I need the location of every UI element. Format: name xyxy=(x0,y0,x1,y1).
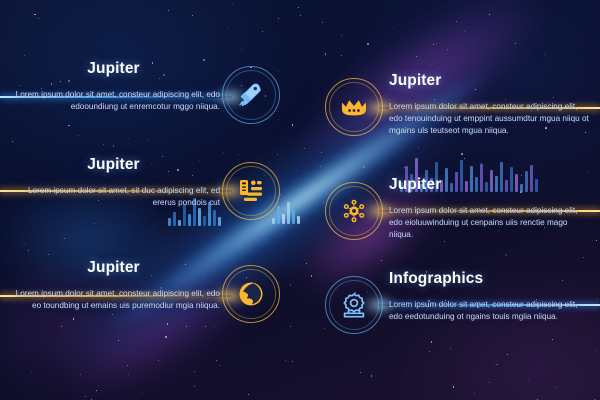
info-item-3-title: Jupiter xyxy=(7,156,220,173)
info-item-1-node[interactable] xyxy=(222,66,280,124)
info-item-6[interactable]: Infographics Lorem ipsum dolor sit amet,… xyxy=(325,270,593,334)
info-item-2-text: Jupiter Lorem ipsum dolor sit amet, cons… xyxy=(389,72,593,137)
rocket-icon xyxy=(235,79,267,111)
info-item-5-node[interactable] xyxy=(222,265,280,323)
info-item-2-node[interactable] xyxy=(325,78,383,136)
info-item-3-description: Lorem ipsum dolor sit amet, sit duc adip… xyxy=(7,185,220,209)
info-item-5-title: Jupiter xyxy=(7,259,220,276)
info-item-3-node[interactable] xyxy=(222,162,280,220)
info-item-5-description: Lorem ipsum dolor sit amet, consteur adi… xyxy=(7,288,220,312)
info-item-1-text: Jupiter Lorem ipsum dolor sit amet, cons… xyxy=(7,60,220,113)
network-gears-icon xyxy=(338,195,370,227)
info-item-4-text: Jupiter Lorem ipsum dolor sit amet, cons… xyxy=(389,176,593,241)
info-item-4-description: Lorem ipsum dolor sit amet, consteur adi… xyxy=(389,205,593,241)
info-item-2[interactable]: Jupiter Lorem ipsum dolor sit amet, cons… xyxy=(325,72,593,137)
lightning-shield-icon xyxy=(235,278,267,310)
info-item-4-title: Jupiter xyxy=(389,176,593,193)
info-item-5-text: Jupiter Lorem ipsum dolor sit amet, cons… xyxy=(7,259,220,312)
server-data-icon xyxy=(235,175,267,207)
info-item-1[interactable]: Jupiter Lorem ipsum dolor sit amet, cons… xyxy=(7,60,280,124)
info-item-1-title: Jupiter xyxy=(7,60,220,77)
info-item-4-node[interactable] xyxy=(325,182,383,240)
infographic-canvas: Jupiter Lorem ipsum dolor sit amet, cons… xyxy=(0,0,600,400)
info-item-2-description: Lorem ipsum dolor sit amet, consteur adi… xyxy=(389,101,593,137)
info-item-3[interactable]: Jupiter Lorem ipsum dolor sit amet, sit … xyxy=(7,156,280,220)
info-item-6-title: Infographics xyxy=(389,270,593,287)
crown-icon xyxy=(338,91,370,123)
gear-settings-icon xyxy=(338,289,370,321)
info-item-6-node[interactable] xyxy=(325,276,383,334)
info-item-6-text: Infographics Lorem ipsum dolor sit amet,… xyxy=(389,270,593,323)
info-item-3-text: Jupiter Lorem ipsum dolor sit amet, sit … xyxy=(7,156,220,209)
info-item-4[interactable]: Jupiter Lorem ipsum dolor sit amet, cons… xyxy=(325,176,593,241)
info-item-6-description: Lorem ipsum dolor sit amet, consteur adi… xyxy=(389,299,593,323)
info-item-1-description: Lorem ipsum dolor sit amet, consteur adi… xyxy=(7,89,220,113)
info-item-2-title: Jupiter xyxy=(389,72,593,89)
info-item-5[interactable]: Jupiter Lorem ipsum dolor sit amet, cons… xyxy=(7,259,280,323)
